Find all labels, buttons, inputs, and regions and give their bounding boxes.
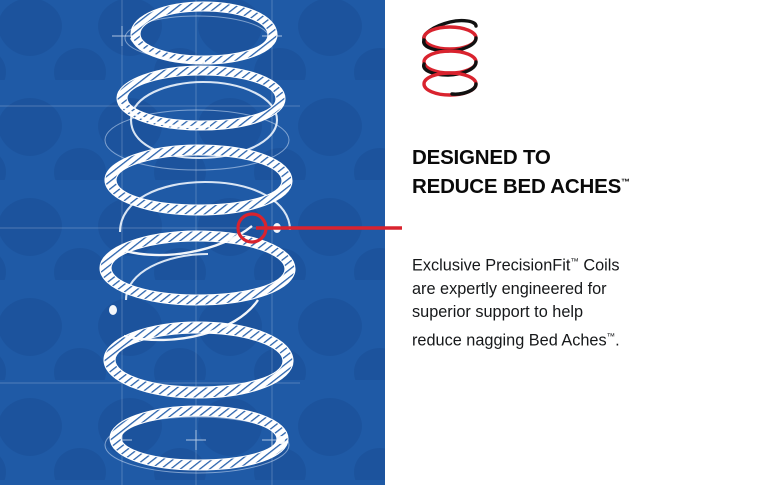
coil-spring-icon [410,18,500,98]
sealy-posturepedic-feature-card: DESIGNED TO REDUCE BED ACHES™ Exclusive … [0,0,758,485]
coil-spring-blueprint [0,0,385,485]
body-line-2: are expertly engineered for [412,278,712,302]
headline-line-1: DESIGNED TO [412,145,742,170]
page-title: DESIGNED TO REDUCE BED ACHES™ [412,145,742,199]
trademark-symbol: ™ [570,256,579,266]
body-line-3: superior support to help [412,301,712,325]
body-copy: Exclusive PrecisionFit™ Coils are expert… [412,250,712,353]
headline-line-2: REDUCE BED ACHES™ [412,170,742,199]
body-line-4: reduce nagging Bed Aches™. [412,325,712,353]
blueprint-panel [0,0,385,485]
trademark-symbol: ™ [607,331,616,341]
body-line-1: Exclusive PrecisionFit™ Coils [412,250,712,278]
content-panel: DESIGNED TO REDUCE BED ACHES™ Exclusive … [385,0,758,485]
trademark-symbol: ™ [621,177,630,187]
